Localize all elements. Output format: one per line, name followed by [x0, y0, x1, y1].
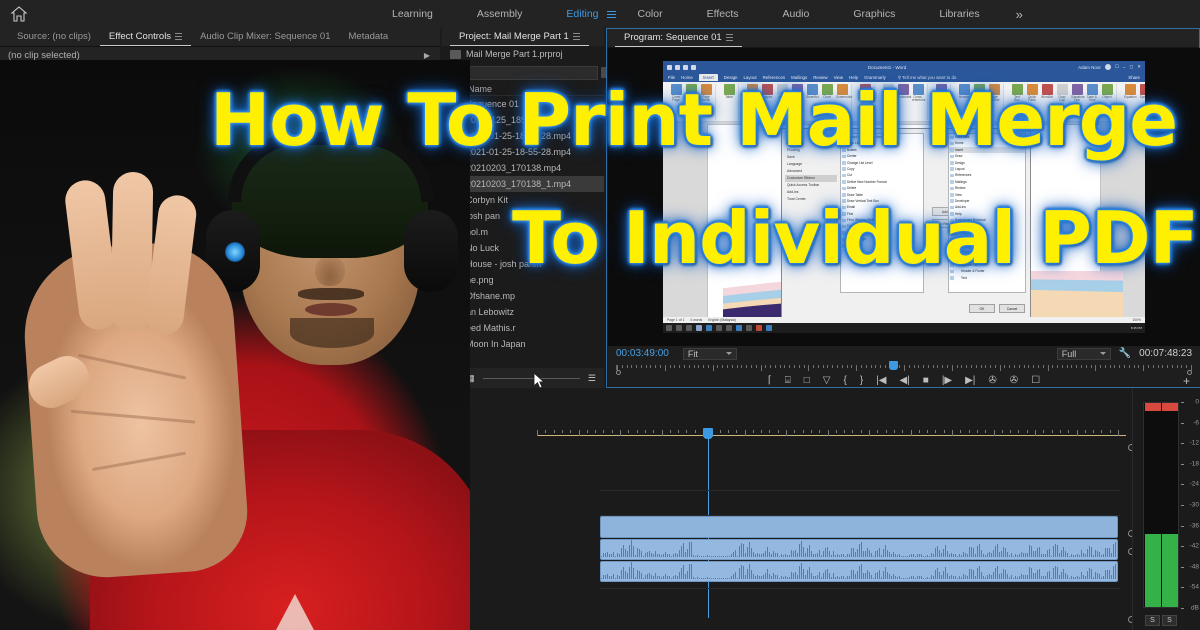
word-ribbon-button[interactable]: Cross-reference — [912, 84, 924, 103]
ruler-tick — [899, 365, 900, 368]
word-ribbon-label: Bookmark — [897, 96, 909, 100]
tab-source[interactable]: Source: (no clips) — [8, 28, 100, 46]
word-ribbon-button[interactable]: Quick Parts — [1026, 84, 1038, 103]
word-ribbon-button[interactable]: Table — [723, 84, 735, 100]
dialog-ok-button[interactable]: OK — [969, 304, 995, 313]
timeline-tick — [1043, 430, 1044, 433]
audio-meters-panel: 0-6-12-18-24-30-36-42-48-54dB S S — [1132, 388, 1200, 630]
playback-quality-dropdown[interactable]: Full — [1057, 348, 1111, 360]
ruler-tick — [1114, 365, 1115, 368]
dialog-category-item[interactable]: Proofing — [785, 147, 837, 154]
ruler-tick — [1071, 365, 1072, 368]
audio-meter-bars[interactable] — [1143, 402, 1179, 608]
go-to-in-icon[interactable]: { — [843, 375, 846, 386]
project-item-label: eed Mathis.r — [466, 323, 516, 333]
word-ribbon-tab[interactable]: Insert — [699, 74, 718, 81]
timeline-tick — [545, 430, 546, 433]
word-ribbon-icon — [936, 84, 947, 95]
word-ribbon-tab[interactable]: Design — [724, 75, 738, 80]
word-ribbon-button[interactable]: Link — [882, 84, 894, 100]
tab-effect-controls[interactable]: Effect Controls — [100, 28, 191, 46]
timeline-tick — [828, 430, 829, 436]
ruler-tick — [1162, 365, 1163, 368]
minimize-icon[interactable]: – — [1123, 65, 1126, 70]
meter-scale-label: -36 — [1190, 522, 1199, 529]
maximize-icon[interactable]: ◻ — [1129, 64, 1133, 70]
project-item-label: Sequence 01 — [466, 99, 519, 109]
ruler-tick — [1158, 365, 1159, 368]
timeline-audio-clip[interactable] — [600, 561, 1118, 582]
dialog-category-item[interactable]: Display — [785, 140, 837, 147]
program-playhead-timecode[interactable]: 00:03:49:00 — [616, 348, 669, 359]
solo-button-left[interactable]: S — [1145, 615, 1160, 626]
word-ribbon-tab[interactable]: Mailings — [791, 75, 807, 80]
word-ribbon-tab[interactable]: Home — [681, 75, 693, 80]
comparison-view-icon[interactable]: ☐ — [1031, 375, 1040, 386]
ruler-tick — [756, 365, 757, 368]
ruler-tick — [861, 365, 862, 368]
word-ribbon-group: HeaderFooterPage Number — [955, 84, 1004, 120]
word-ribbon-button[interactable]: Pictures — [746, 84, 758, 100]
ruler-tick — [1124, 365, 1125, 368]
word-ribbon-tab[interactable]: Grammarly — [864, 75, 886, 80]
word-ribbon-label: Object — [1101, 96, 1113, 100]
timeline-tick — [778, 430, 779, 433]
timeline-tick — [1077, 430, 1078, 436]
program-video-view[interactable]: Document1 - Word Adam Noor ☐ – ◻ ✕ FileH… — [608, 48, 1200, 346]
ruler-tick — [933, 365, 934, 368]
meter-tick — [1181, 587, 1184, 588]
word-ribbon-label: Quick Parts — [1026, 96, 1038, 103]
ruler-tick — [985, 365, 986, 368]
go-to-next-icon[interactable]: |▶ — [942, 375, 952, 386]
mark-clip-icon[interactable]: □ — [804, 375, 810, 386]
dialog-category-list[interactable]: GeneralDisplayProofingSaveLanguageAdvanc… — [785, 133, 837, 293]
word-ribbon-button[interactable]: Symbol — [1139, 84, 1145, 100]
timeline-tick — [1093, 430, 1094, 433]
meter-scale-label: 0 — [1195, 399, 1199, 406]
dialog-category-item[interactable]: Advanced — [785, 168, 837, 175]
project-search-input[interactable] — [448, 66, 598, 80]
timeline-track-divider — [600, 588, 1120, 589]
taskbar-app-icon[interactable] — [746, 325, 752, 331]
project-panel-tabstrip: Project: Mail Merge Part 1 — [442, 28, 604, 46]
dialog-ribbon-tree[interactable]: Main TabsHomeInsertDrawDesignLayoutRefer… — [948, 133, 1026, 293]
dialog-category-item[interactable]: General — [785, 133, 837, 140]
workspace-tab-graphics[interactable]: Graphics — [831, 0, 917, 28]
ruler-tick — [1186, 365, 1187, 368]
timeline-tick — [1060, 430, 1061, 433]
word-ribbon-label: Online Videos — [859, 96, 871, 103]
meter-tick — [1181, 423, 1184, 424]
word-ribbon-button[interactable]: Object — [1101, 84, 1113, 100]
close-icon[interactable]: ✕ — [1137, 64, 1141, 70]
zoom-slider[interactable] — [483, 378, 580, 379]
word-ribbon-group: Cover PageBlank PagePage Break — [667, 84, 716, 120]
ruler-tick — [1028, 365, 1029, 368]
timeline-tick — [620, 430, 621, 436]
go-to-out-icon[interactable]: } — [860, 375, 863, 386]
ruler-tick — [674, 365, 675, 368]
timeline-tick — [1035, 430, 1036, 436]
workspace-tab-label: Editing — [566, 8, 598, 20]
word-ribbon-button[interactable]: Blank Page — [685, 84, 697, 103]
ribbon-display-options-icon[interactable]: ☐ — [1115, 64, 1119, 70]
word-language: English (Malaysia) — [708, 318, 736, 322]
timeline-ruler-line — [537, 435, 1126, 436]
timeline-tick — [1027, 430, 1028, 433]
word-window-controls: Adam Noor ☐ – ◻ ✕ — [1078, 64, 1141, 70]
ruler-tick — [1033, 365, 1034, 368]
dialog-category-item[interactable]: Trust Center — [785, 196, 837, 203]
meter-tick — [1181, 484, 1184, 485]
word-ribbon-button[interactable]: Screenshot — [836, 84, 848, 100]
workspace-tab-effects[interactable]: Effects — [685, 0, 761, 28]
wrench-icon[interactable]: 🔧 — [1119, 348, 1131, 359]
program-time-ruler[interactable] — [608, 361, 1200, 374]
ruler-tick — [789, 365, 790, 368]
timeline-tick — [554, 430, 555, 433]
timeline-tick — [637, 430, 638, 433]
timeline-tick — [960, 430, 961, 433]
timeline-tick — [902, 430, 903, 433]
ruler-tick — [780, 365, 781, 368]
home-icon[interactable] — [10, 5, 28, 23]
solo-button-right[interactable]: S — [1162, 615, 1177, 626]
dialog-category-item[interactable]: Add-ins — [785, 189, 837, 196]
ruler-tick — [918, 365, 919, 368]
export-frame-icon[interactable]: ✇ — [1010, 375, 1018, 386]
palm-crease — [71, 410, 196, 424]
dialog-tree-child[interactable]: Text — [949, 275, 1025, 281]
word-ribbon-label: Chart — [821, 96, 833, 100]
ruler-tick — [1138, 365, 1139, 368]
ruler-tick — [627, 365, 628, 368]
step-back-icon[interactable]: |◀ — [876, 375, 886, 386]
program-playhead[interactable] — [889, 361, 898, 370]
word-document-title: Document1 - Word — [868, 65, 906, 70]
word-ribbon-button[interactable]: SmartArt — [806, 84, 818, 100]
workspace-tab-label: Graphics — [853, 8, 895, 20]
zoom-level-dropdown[interactable]: Fit — [683, 348, 737, 360]
word-ribbon-group: Comment — [932, 84, 951, 120]
mouse-cursor — [533, 372, 545, 390]
ruler-tick — [684, 365, 685, 368]
dialog-category-item[interactable]: Language — [785, 161, 837, 168]
project-item-label: 2021-01-25-18-55-28.mp4 — [466, 147, 571, 157]
ruler-tick — [631, 365, 632, 368]
ruler-tick — [928, 365, 929, 368]
word-ribbon-icon — [837, 84, 848, 95]
ruler-tick — [942, 365, 943, 368]
workspace-tab-libraries[interactable]: Libraries — [917, 0, 1001, 28]
word-ribbon-group: PicturesShapesIcons3D ModelsSmartArtChar… — [743, 84, 852, 120]
word-ribbon-tab[interactable]: Review — [813, 75, 827, 80]
dialog-cancel-button[interactable]: Cancel — [999, 304, 1025, 313]
word-ribbon-button[interactable]: Chart — [821, 84, 833, 100]
taskbar-search-icon[interactable] — [676, 325, 682, 331]
windows-taskbar: 8:45 PM — [663, 323, 1145, 333]
start-icon[interactable] — [666, 325, 672, 331]
timeline-tick — [844, 430, 845, 433]
ruler-tick — [660, 365, 661, 368]
project-item-label: Moon In Japan — [466, 339, 526, 349]
step-forward-icon[interactable]: ■ — [923, 375, 929, 386]
workspace-menu-icon[interactable] — [607, 10, 616, 19]
word-ribbon-icon — [1012, 84, 1023, 95]
timeline-tick — [662, 430, 663, 436]
source-panel-tabstrip: Source: (no clips) Effect Controls Audio… — [0, 28, 440, 46]
mark-in-icon[interactable]: ⌈ — [768, 375, 772, 386]
project-item-label: an Lebowitz — [466, 307, 514, 317]
lift-icon[interactable]: ▶| — [965, 375, 975, 386]
meter-scale-label: -48 — [1190, 563, 1199, 570]
panel-menu-icon[interactable] — [573, 33, 580, 40]
word-ribbon-icon — [883, 84, 894, 95]
word-ribbon-button[interactable]: 3D Models — [791, 84, 803, 103]
ruler-tick — [1043, 365, 1044, 368]
word-ribbon-tab[interactable]: File — [668, 75, 675, 80]
project-item-label: 20210203_170138_1.mp4 — [466, 179, 571, 189]
word-ribbon-button[interactable]: Cover Page — [670, 84, 682, 103]
extract-icon[interactable]: ✇ — [988, 375, 996, 386]
dialog-category-item[interactable]: Save — [785, 154, 837, 161]
word-ribbon-label: Screenshot — [836, 96, 848, 100]
word-ribbon-button[interactable]: Online Videos — [859, 84, 871, 103]
word-ribbon-button[interactable]: WordArt — [1041, 84, 1053, 100]
person-moustache — [298, 288, 364, 300]
ruler-tick — [804, 365, 805, 368]
word-ribbon-button[interactable]: Comment — [935, 84, 947, 100]
word-ribbon-button[interactable]: Date & Time — [1086, 84, 1098, 103]
word-ribbon-label: Comment — [935, 96, 947, 100]
word-ribbon-button[interactable]: Header — [958, 84, 970, 100]
word-ribbon-label: SmartArt — [806, 96, 818, 100]
meter-tick — [1181, 546, 1184, 547]
timeline-tick — [944, 430, 945, 433]
program-duration-timecode: 00:07:48:23 — [1139, 348, 1192, 359]
word-ribbon-button[interactable]: Equation — [1124, 84, 1136, 100]
word-ribbon-label: Drop Cap — [1056, 96, 1068, 103]
audio-meter-scale: 0-6-12-18-24-30-36-42-48-54dB — [1181, 402, 1200, 608]
ruler-tick — [1019, 365, 1020, 368]
ruler-tick — [698, 365, 699, 368]
timeline-tick — [587, 430, 588, 433]
meter-scale-label: -30 — [1190, 502, 1199, 509]
solo-label: S — [1150, 617, 1155, 624]
ruler-tick — [981, 365, 982, 368]
project-item-label: Ofshane.mp — [466, 291, 515, 301]
ruler-tick — [765, 365, 766, 368]
dialog-command-item[interactable]: Font Size — [841, 243, 923, 249]
timeline-tick — [653, 430, 654, 433]
tab-program[interactable]: Program: Sequence 01 — [615, 29, 742, 47]
palm-crease — [92, 452, 186, 471]
word-ribbon-label: Page Number — [988, 96, 1000, 103]
word-ribbon-button[interactable]: Drop Cap — [1056, 84, 1068, 103]
marker-icon[interactable]: ▽ — [823, 375, 831, 386]
word-ribbon-label: Icons — [776, 96, 788, 100]
dialog-command-list[interactable]: Accept and Move to NextAlign LeftBullets… — [840, 133, 924, 293]
ruler-tick — [655, 365, 656, 368]
word-ribbon-tab[interactable]: View — [834, 75, 843, 80]
project-item-label: No Luck — [466, 243, 499, 253]
timeline-tick — [1010, 430, 1011, 433]
word-zoom-level[interactable]: 100% — [1132, 318, 1141, 322]
ruler-tick — [990, 365, 991, 368]
panel-menu-icon[interactable] — [175, 33, 182, 40]
timeline-video-clip[interactable] — [600, 516, 1118, 538]
word-account-name: Adam Noor — [1078, 65, 1101, 70]
ruler-tick — [770, 365, 771, 368]
play-stop-icon[interactable]: ◀| — [899, 375, 909, 386]
ruler-tick — [976, 365, 977, 368]
avatar — [1105, 64, 1111, 70]
word-document-area: GeneralDisplayProofingSaveLanguageAdvanc… — [663, 122, 1145, 323]
ruler-tick — [1091, 365, 1092, 368]
word-ribbon-button[interactable]: Page Number — [988, 84, 1000, 103]
timeline-tick — [977, 430, 978, 433]
button-editor-icon[interactable]: + — [1183, 374, 1190, 388]
word-ribbon-label: Shapes — [761, 96, 773, 100]
timeline-tick — [994, 430, 995, 436]
ruler-tick — [827, 365, 828, 368]
headphone-earcup — [404, 210, 458, 292]
word-ribbon-icon — [762, 84, 773, 95]
word-ribbon-button[interactable]: Footer — [973, 84, 985, 100]
word-ribbon-icon — [807, 84, 818, 95]
ruler-tick — [799, 365, 800, 368]
workspace-overflow-icon[interactable]: » — [1002, 7, 1037, 22]
ruler-tick — [885, 365, 886, 368]
word-ribbon-label: Cross-reference — [912, 96, 924, 103]
word-ribbon-label: Text Box — [1011, 96, 1023, 103]
taskbar-app-icon[interactable] — [706, 325, 712, 331]
ruler-tick — [961, 365, 962, 368]
meter-tick — [1181, 608, 1184, 609]
word-ribbon-button[interactable]: Signature Line — [1071, 84, 1083, 103]
word-options-dialog[interactable]: GeneralDisplayProofingSaveLanguageAdvanc… — [781, 128, 1031, 318]
word-share-button[interactable]: Share — [1128, 75, 1140, 80]
timeline-tick — [1002, 430, 1003, 433]
word-title-bar: Document1 - Word Adam Noor ☐ – ◻ ✕ — [663, 61, 1145, 73]
ruler-tick — [694, 365, 695, 368]
taskbar-app-icon[interactable] — [726, 325, 732, 331]
ruler-tick — [737, 365, 738, 368]
timeline-tick — [678, 430, 679, 433]
word-ribbon-tab[interactable]: Help — [849, 75, 858, 80]
project-options-icon[interactable]: ☰ — [588, 373, 596, 384]
ruler-tick — [722, 365, 723, 368]
word-word-count: 0 words — [690, 318, 702, 322]
ruler-tick — [641, 365, 642, 368]
workspace-tab-assembly[interactable]: Assembly — [455, 0, 545, 28]
word-ribbon-button[interactable]: Page Break — [700, 84, 712, 103]
taskbar-app-icon[interactable] — [756, 325, 762, 331]
ruler-tick — [1076, 365, 1077, 368]
word-ribbon-tab[interactable]: References — [763, 75, 785, 80]
meter-scale-label: -54 — [1190, 584, 1199, 591]
timeline-tick — [728, 430, 729, 433]
word-ribbon-label: Footer — [973, 96, 985, 100]
ruler-tick — [751, 365, 752, 368]
word-ribbon-label: Page Break — [700, 96, 712, 103]
workspace-tab-label: Color — [638, 8, 663, 20]
word-ribbon-label: Table — [723, 96, 735, 100]
timeline-tick — [836, 430, 837, 433]
workspace-tab-learning[interactable]: Learning — [370, 0, 455, 28]
ruler-tick — [1062, 365, 1063, 368]
timeline-tick — [861, 430, 862, 433]
meter-tick — [1181, 526, 1184, 527]
word-ribbon-button[interactable]: Shapes — [761, 84, 773, 100]
workspace-tab-audio[interactable]: Audio — [761, 0, 832, 28]
ruler-tick — [1038, 365, 1039, 368]
tab-label: Metadata — [349, 31, 389, 42]
ruler-tick — [1129, 365, 1130, 368]
expand-arrow-icon[interactable]: ▶ — [424, 51, 430, 60]
task-view-icon[interactable] — [686, 325, 692, 331]
timeline-tick — [919, 430, 920, 433]
dialog-category-item[interactable]: Customize Ribbon — [785, 175, 837, 182]
ruler-tick — [1057, 365, 1058, 368]
word-ribbon-tab[interactable]: Layout — [743, 75, 756, 80]
audio-meter-channel-right — [1162, 403, 1178, 607]
taskbar-app-icon[interactable] — [736, 325, 742, 331]
tab-label: Project: Mail Merge Part 1 — [459, 31, 569, 42]
timeline-tick — [1110, 430, 1111, 433]
ruler-tick — [813, 365, 814, 368]
taskbar-app-icon[interactable] — [696, 325, 702, 331]
meter-tick — [1181, 505, 1184, 506]
word-ribbon-button[interactable]: Bookmark — [897, 84, 909, 100]
taskbar-word-icon[interactable] — [766, 325, 772, 331]
tab-project[interactable]: Project: Mail Merge Part 1 — [450, 28, 589, 46]
headphone-led — [225, 242, 245, 262]
tell-me-search[interactable]: ⚲ Tell me what you want to do — [898, 75, 957, 81]
ruler-tick — [646, 365, 647, 368]
ruler-tick — [818, 365, 819, 368]
word-ribbon-button[interactable]: Icons — [776, 84, 788, 100]
person-mouth — [305, 303, 357, 316]
ruler-tick — [775, 365, 776, 368]
ruler-tick — [909, 365, 910, 368]
timeline-audio-clip[interactable] — [600, 539, 1118, 560]
panel-menu-icon[interactable] — [726, 34, 733, 41]
word-ribbon-button[interactable]: Text Box — [1011, 84, 1023, 103]
word-ribbon-group: Table — [720, 84, 739, 120]
tab-metadata[interactable]: Metadata — [340, 28, 398, 46]
solo-label: S — [1167, 617, 1172, 624]
timeline-tick — [645, 430, 646, 433]
dialog-category-item[interactable]: Quick Access Toolbar — [785, 182, 837, 189]
ruler-tick — [689, 365, 690, 368]
ruler-tick — [1167, 365, 1168, 368]
clip-indicator[interactable] — [1145, 403, 1161, 411]
tab-audio-clip-mixer[interactable]: Audio Clip Mixer: Sequence 01 — [191, 28, 339, 46]
word-ribbon-group: LinkBookmarkCross-reference — [879, 84, 928, 120]
clip-indicator[interactable] — [1162, 403, 1178, 411]
ruler-tick — [847, 365, 848, 368]
add-marker-icon[interactable]: ⌸ — [785, 375, 791, 386]
workspace-tab-color[interactable]: Color — [616, 0, 685, 28]
timeline-tick — [670, 430, 671, 433]
word-ribbon-label: Header — [958, 96, 970, 100]
word-application-screenshot: Document1 - Word Adam Noor ☐ – ◻ ✕ FileH… — [663, 61, 1145, 333]
taskbar-app-icon[interactable] — [716, 325, 722, 331]
ruler-tick — [1100, 365, 1101, 368]
program-monitor-controls: 00:03:49:00 Fit Full 🔧 00:07:48:23 — [608, 346, 1200, 387]
